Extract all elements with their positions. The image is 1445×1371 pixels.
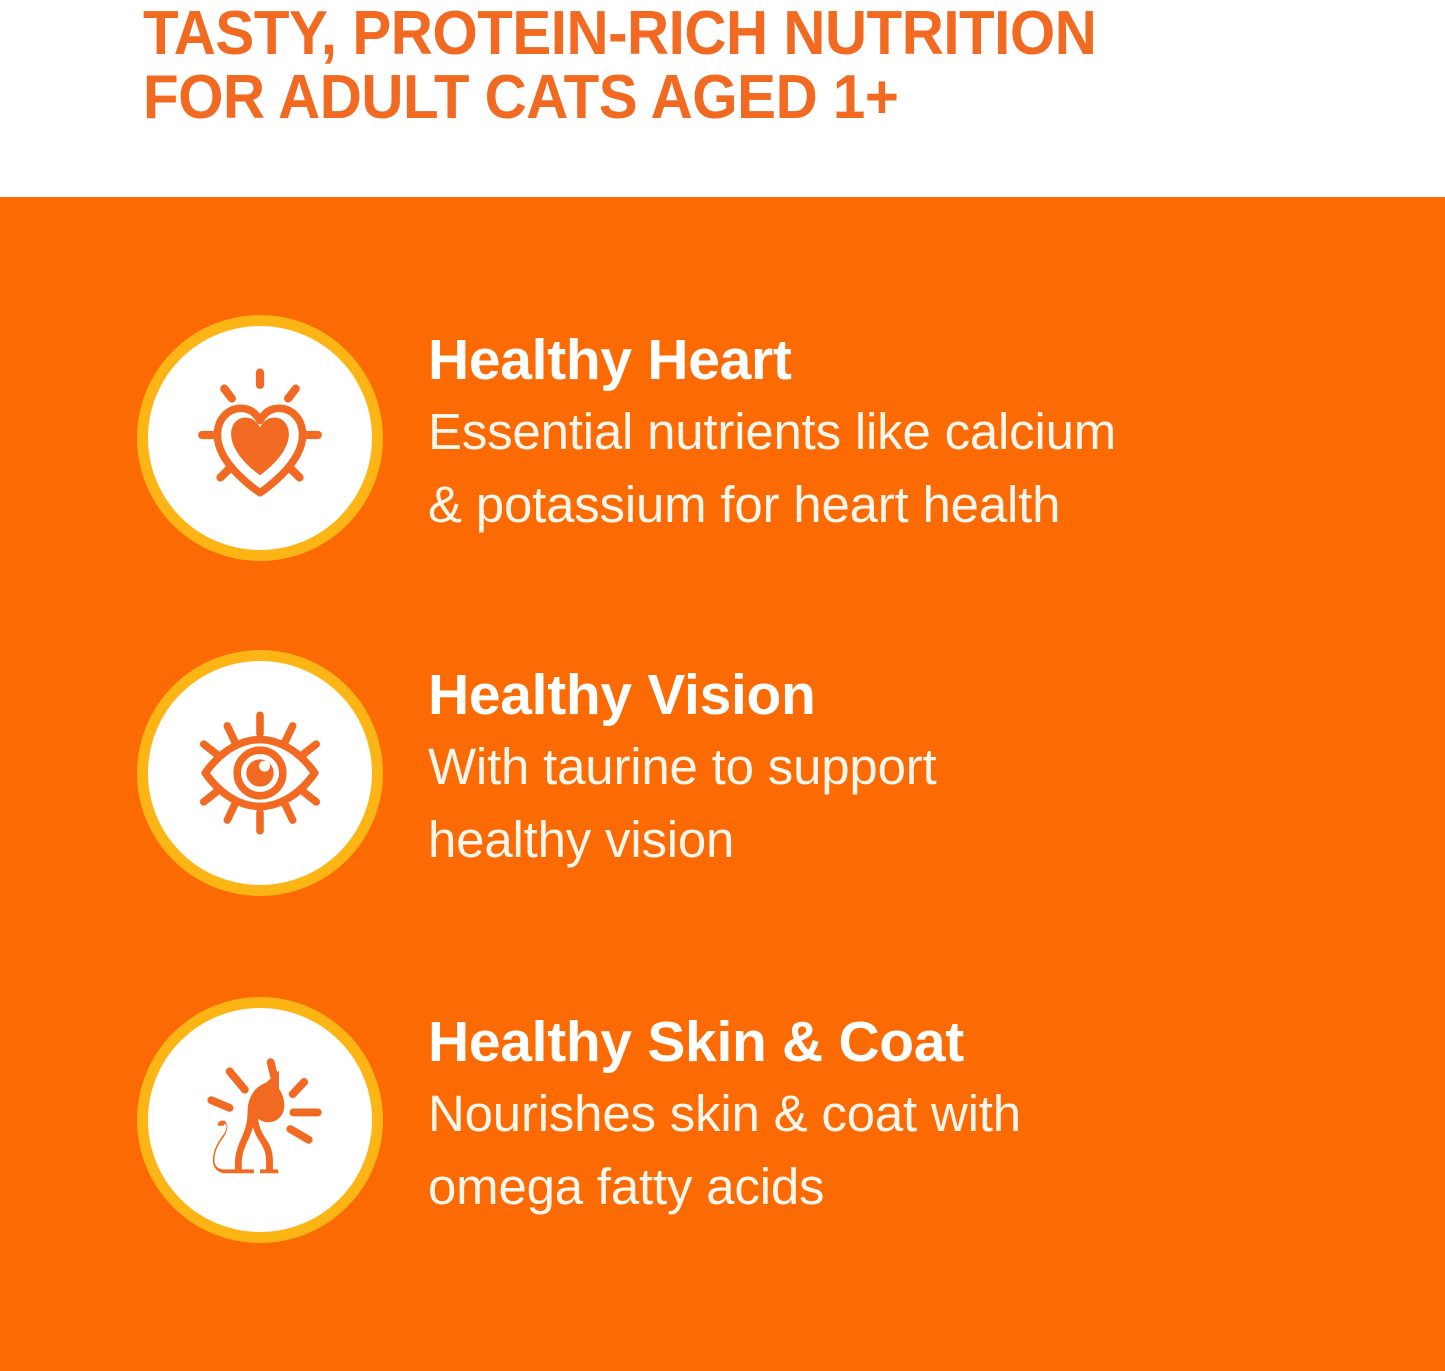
radiant-cat-icon bbox=[184, 1044, 336, 1196]
benefit-text-block: Healthy Skin & Coat Nourishes skin & coa… bbox=[428, 1011, 1348, 1223]
benefit-row: Healthy Skin & Coat Nourishes skin & coa… bbox=[0, 997, 1445, 1297]
benefit-row: Healthy Vision With taurine to support h… bbox=[0, 650, 1445, 950]
benefit-description: With taurine to support healthy vision bbox=[428, 730, 1348, 876]
benefit-text-block: Healthy Heart Essential nutrients like c… bbox=[428, 329, 1348, 541]
benefit-row: Healthy Heart Essential nutrients like c… bbox=[0, 315, 1445, 615]
benefit-title: Healthy Heart bbox=[428, 329, 1348, 391]
radiant-heart-icon bbox=[184, 362, 336, 514]
benefit-icon-badge bbox=[137, 315, 383, 561]
benefit-description: Essential nutrients like calcium & potas… bbox=[428, 395, 1348, 541]
headline-band: TASTY, PROTEIN-RICH NUTRITION FOR ADULT … bbox=[0, 0, 1445, 197]
benefit-description: Nourishes skin & coat with omega fatty a… bbox=[428, 1077, 1348, 1223]
benefit-title: Healthy Skin & Coat bbox=[428, 1011, 1348, 1073]
benefits-panel: Healthy Heart Essential nutrients like c… bbox=[0, 197, 1445, 1371]
radiant-eye-icon bbox=[184, 697, 336, 849]
page-headline: TASTY, PROTEIN-RICH NUTRITION FOR ADULT … bbox=[143, 2, 1299, 130]
benefit-icon-badge bbox=[137, 650, 383, 896]
benefit-text-block: Healthy Vision With taurine to support h… bbox=[428, 664, 1348, 876]
benefit-icon-badge bbox=[137, 997, 383, 1243]
benefit-title: Healthy Vision bbox=[428, 664, 1348, 726]
